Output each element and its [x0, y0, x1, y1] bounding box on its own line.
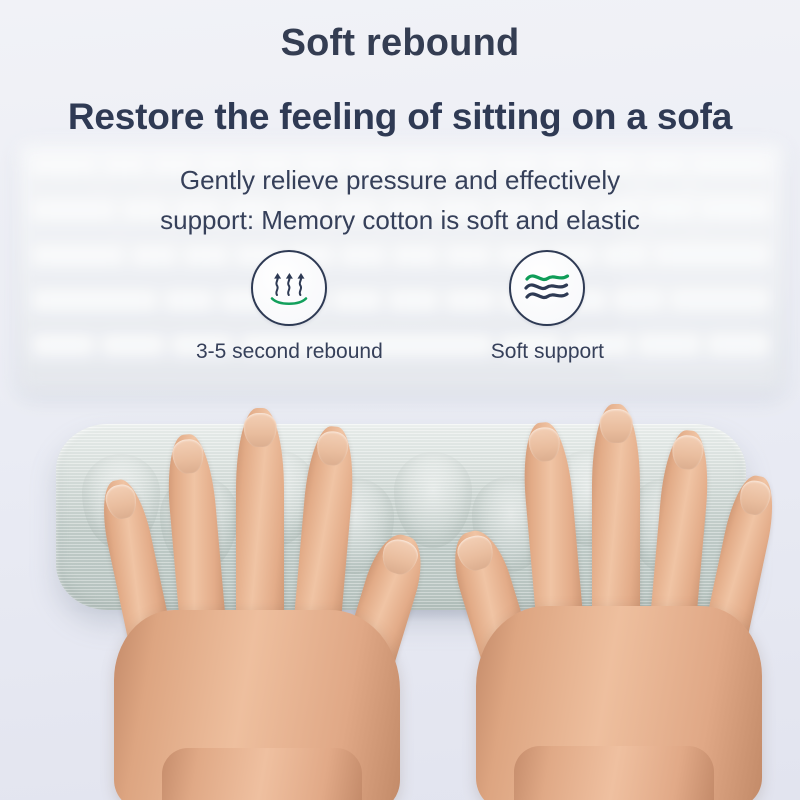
fingernail [244, 413, 277, 447]
fingernail [600, 409, 633, 443]
feature-item-rebound: 3-5 second rebound [196, 250, 383, 364]
wrist [514, 746, 714, 800]
page-title: Soft rebound [0, 22, 800, 65]
wrist [162, 748, 362, 800]
fingernail [737, 478, 773, 517]
fingernail [378, 536, 422, 579]
description-line-2: support: Memory cotton is soft and elast… [60, 200, 740, 240]
left-hand [110, 400, 440, 800]
feature-label: Soft support [491, 340, 604, 364]
product-feature-image: Soft rebound Restore the feeling of sitt… [0, 0, 800, 800]
description-line-1: Gently relieve pressure and effectively [60, 160, 740, 200]
feature-item-support: Soft support [491, 250, 604, 364]
fingernail [171, 438, 205, 475]
fingernail [671, 434, 705, 471]
fingernail [103, 482, 139, 521]
page-subtitle: Restore the feeling of sitting on a sofa [0, 96, 800, 138]
soft-wave-lines-icon [521, 262, 573, 314]
rebound-badge [251, 250, 327, 326]
feature-label: 3-5 second rebound [196, 340, 383, 364]
description-text: Gently relieve pressure and effectively … [60, 160, 740, 241]
support-badge [509, 250, 585, 326]
feature-list: 3-5 second rebound Soft support [0, 250, 800, 364]
fingernail [527, 426, 562, 463]
rising-waves-arrows-icon [266, 265, 312, 311]
right-hand [440, 398, 770, 800]
fingernail [315, 430, 350, 467]
fingernail [454, 532, 498, 575]
